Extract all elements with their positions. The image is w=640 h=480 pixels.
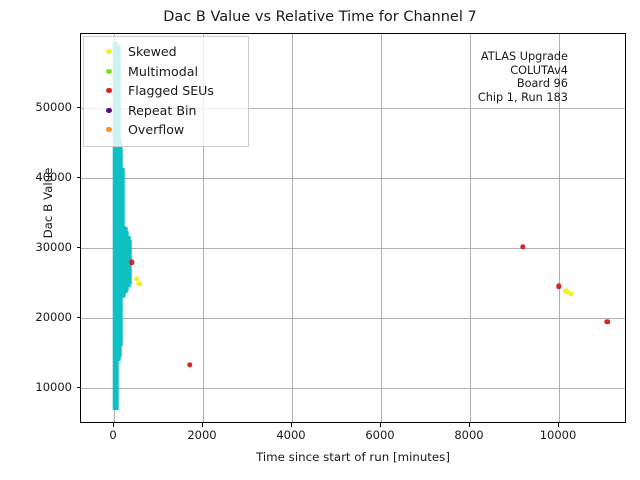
legend-marker-multimodal-icon bbox=[90, 69, 128, 74]
gridline-vertical bbox=[381, 34, 382, 422]
x-tick-mark bbox=[291, 423, 292, 427]
gridline-horizontal bbox=[81, 178, 625, 179]
legend-marker-overflow-icon bbox=[90, 127, 128, 132]
x-tick-mark bbox=[113, 423, 114, 427]
y-axis-tick-labels: 50000 40000 30000 20000 10000 bbox=[0, 0, 72, 480]
y-tick-label: 10000 bbox=[35, 380, 72, 394]
page-title: Dac B Value vs Relative Time for Channel… bbox=[0, 9, 640, 25]
annotation-line: ATLAS Upgrade bbox=[478, 50, 568, 64]
gridline-vertical bbox=[292, 34, 293, 422]
data-point bbox=[137, 281, 142, 286]
annotation-line: COLUTAv4 bbox=[478, 64, 568, 78]
x-tick-mark bbox=[202, 423, 203, 427]
x-tick-label: 8000 bbox=[454, 428, 483, 442]
legend-item-skewed[interactable]: Skewed bbox=[90, 42, 242, 62]
x-axis-label: Time since start of run [minutes] bbox=[80, 450, 626, 464]
legend-item-multimodal[interactable]: Multimodal bbox=[90, 62, 242, 82]
gridline-horizontal bbox=[81, 248, 625, 249]
gridline-horizontal bbox=[81, 388, 625, 389]
y-axis-label: Dac B Value bbox=[41, 73, 55, 333]
legend-label: Repeat Bin bbox=[128, 103, 196, 118]
annotation-text: ATLAS Upgrade COLUTAv4 Board 96 Chip 1, … bbox=[478, 50, 568, 104]
x-tick-mark bbox=[469, 423, 470, 427]
data-point bbox=[187, 362, 192, 367]
x-tick-mark bbox=[558, 423, 559, 427]
x-tick-label: 10000 bbox=[540, 428, 577, 442]
legend-label: Skewed bbox=[128, 44, 177, 59]
annotation-line: Board 96 bbox=[478, 77, 568, 91]
scatter-chart-figure: Dac B Value vs Relative Time for Channel… bbox=[0, 0, 640, 480]
legend-item-flagged-seus[interactable]: Flagged SEUs bbox=[90, 81, 242, 101]
x-tick-label: 2000 bbox=[187, 428, 216, 442]
data-point bbox=[556, 284, 561, 289]
x-tick-label: 4000 bbox=[276, 428, 305, 442]
legend-item-repeat-bin[interactable]: Repeat Bin bbox=[90, 101, 242, 121]
legend-item-overflow[interactable]: Overflow bbox=[90, 120, 242, 140]
x-tick-label: 6000 bbox=[365, 428, 394, 442]
data-point bbox=[568, 291, 573, 296]
gridline-horizontal bbox=[81, 318, 625, 319]
annotation-line: Chip 1, Run 183 bbox=[478, 91, 568, 105]
legend-label: Overflow bbox=[128, 122, 184, 137]
legend-label: Flagged SEUs bbox=[128, 83, 214, 98]
legend-label: Multimodal bbox=[128, 64, 198, 79]
legend-marker-skewed-icon bbox=[90, 49, 128, 54]
gridline-vertical bbox=[470, 34, 471, 422]
x-tick-label: 0 bbox=[109, 428, 116, 442]
data-point bbox=[129, 259, 134, 264]
legend-marker-flagged-seus-icon bbox=[90, 88, 128, 93]
x-tick-mark bbox=[380, 423, 381, 427]
legend-marker-repeat-bin-icon bbox=[90, 108, 128, 113]
data-point bbox=[605, 319, 610, 324]
legend[interactable]: Skewed Multimodal Flagged SEUs Repeat Bi… bbox=[83, 36, 249, 147]
